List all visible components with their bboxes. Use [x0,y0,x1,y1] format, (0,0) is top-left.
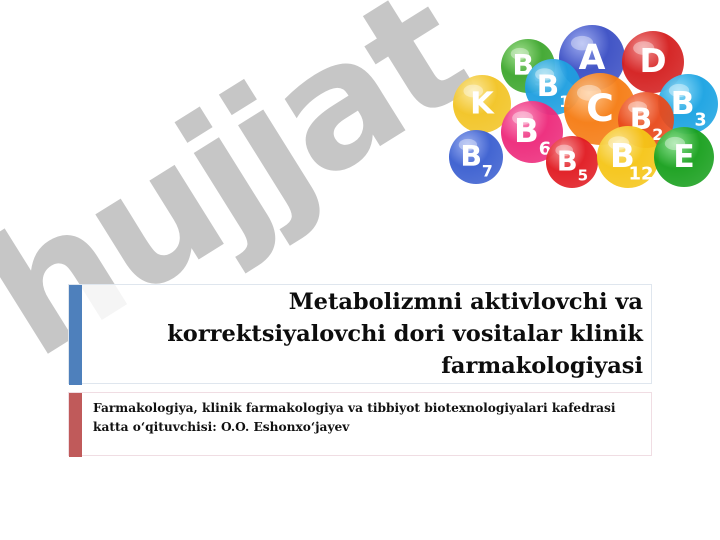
svg-text:5: 5 [578,167,589,185]
svg-text:K: K [470,87,495,122]
svg-text:B: B [460,140,482,173]
subtitle-block: Farmakologiya, klinik farmakologiya va t… [68,392,652,456]
title-block: Metabolizmni aktivlovchi va korrektsiyal… [68,284,652,384]
vitamin-sphere-b7: B7 [449,130,503,184]
subtitle-accent-bar [69,393,82,457]
presentation-slide: hujjat B9ADB1KCB3B2B6B7B5B12E Metabolizm… [0,0,720,540]
svg-text:7: 7 [482,161,493,180]
svg-text:B: B [514,112,539,150]
vitamin-spheres-svg: B9ADB1KCB3B2B6B7B5B12E [440,14,718,194]
svg-text:C: C [586,86,614,130]
svg-text:D: D [639,42,666,80]
svg-text:12: 12 [628,163,653,184]
title-accent-bar [69,285,82,385]
svg-text:E: E [673,139,695,175]
svg-text:B: B [557,147,578,178]
vitamin-spheres-image: B9ADB1KCB3B2B6B7B5B12E [440,14,718,194]
vitamin-sphere-e: E [654,127,714,187]
page-title: Metabolizmni aktivlovchi va korrektsiyal… [91,286,643,382]
svg-text:B: B [671,86,695,122]
page-subtitle: Farmakologiya, klinik farmakologiya va t… [93,399,643,437]
svg-text:3: 3 [695,111,707,131]
svg-text:B: B [537,69,559,103]
svg-text:A: A [579,38,606,78]
vitamin-sphere-b12: B12 [597,126,659,188]
vitamin-sphere-b5: B5 [546,136,598,188]
